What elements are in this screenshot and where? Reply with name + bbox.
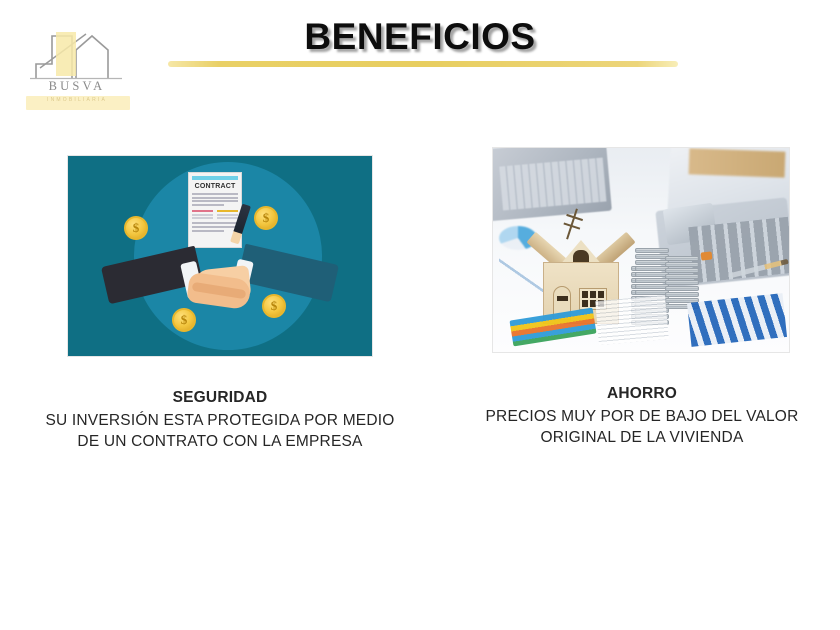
illustration-canvas: $ $ $ $ CONTRACT [68,156,372,356]
photo-canvas [493,148,789,352]
title-underline-rule [168,61,678,67]
coin-icon: $ [172,308,196,332]
page-title: BENEFICIOS [0,16,840,58]
contract-text-line [192,193,238,195]
contract-columns [192,209,238,221]
coin-icon: $ [124,216,148,240]
benefit-caption-ahorro: AHORRO PRECIOS MUY POR DE BAJO DEL VALOR… [462,383,822,448]
paper-note [595,295,669,345]
benefit-body: SU INVERSIÓN ESTA PROTEGIDA POR MEDIO DE… [45,412,394,450]
benefit-column-ahorro: AHORRO PRECIOS MUY POR DE BAJO DEL VALOR… [462,147,822,448]
wooden-panel [689,148,786,177]
logo-tagline: INMOBILIARIA [22,97,132,103]
benefit-column-seguridad: $ $ $ $ CONTRACT [40,155,400,452]
benefit-heading: AHORRO [462,383,822,404]
contract-title: CONTRACT [192,183,238,190]
benefit-body: PRECIOS MUY POR DE BAJO DEL VALOR ORIGIN… [486,408,799,446]
benefit-caption-seguridad: SEGURIDAD SU INVERSIÓN ESTA PROTEGIDA PO… [40,387,400,452]
contract-column [192,209,213,221]
contract-text-line [192,204,224,206]
calculator-accent-key [701,251,713,260]
contract-text-line [192,197,238,199]
laptop-keyboard [499,158,606,211]
logo-name: BUSVA [22,79,132,94]
contract-text-line [192,200,238,202]
slide-root: BUSVA INMOBILIARIA BENEFICIOS $ $ $ $ CO… [0,0,840,630]
handshake-contract-illustration: $ $ $ $ CONTRACT [67,155,373,357]
contract-text-line [192,226,238,228]
coin-icon: $ [254,206,278,230]
contract-header-bar [192,176,238,180]
contract-column [217,209,238,221]
coin-icon: $ [262,294,286,318]
contract-text-line [192,230,224,232]
benefit-heading: SEGURIDAD [40,387,400,408]
house-model-coins-photo [492,147,790,353]
contract-text-line [192,222,238,224]
house-antenna [566,208,578,239]
